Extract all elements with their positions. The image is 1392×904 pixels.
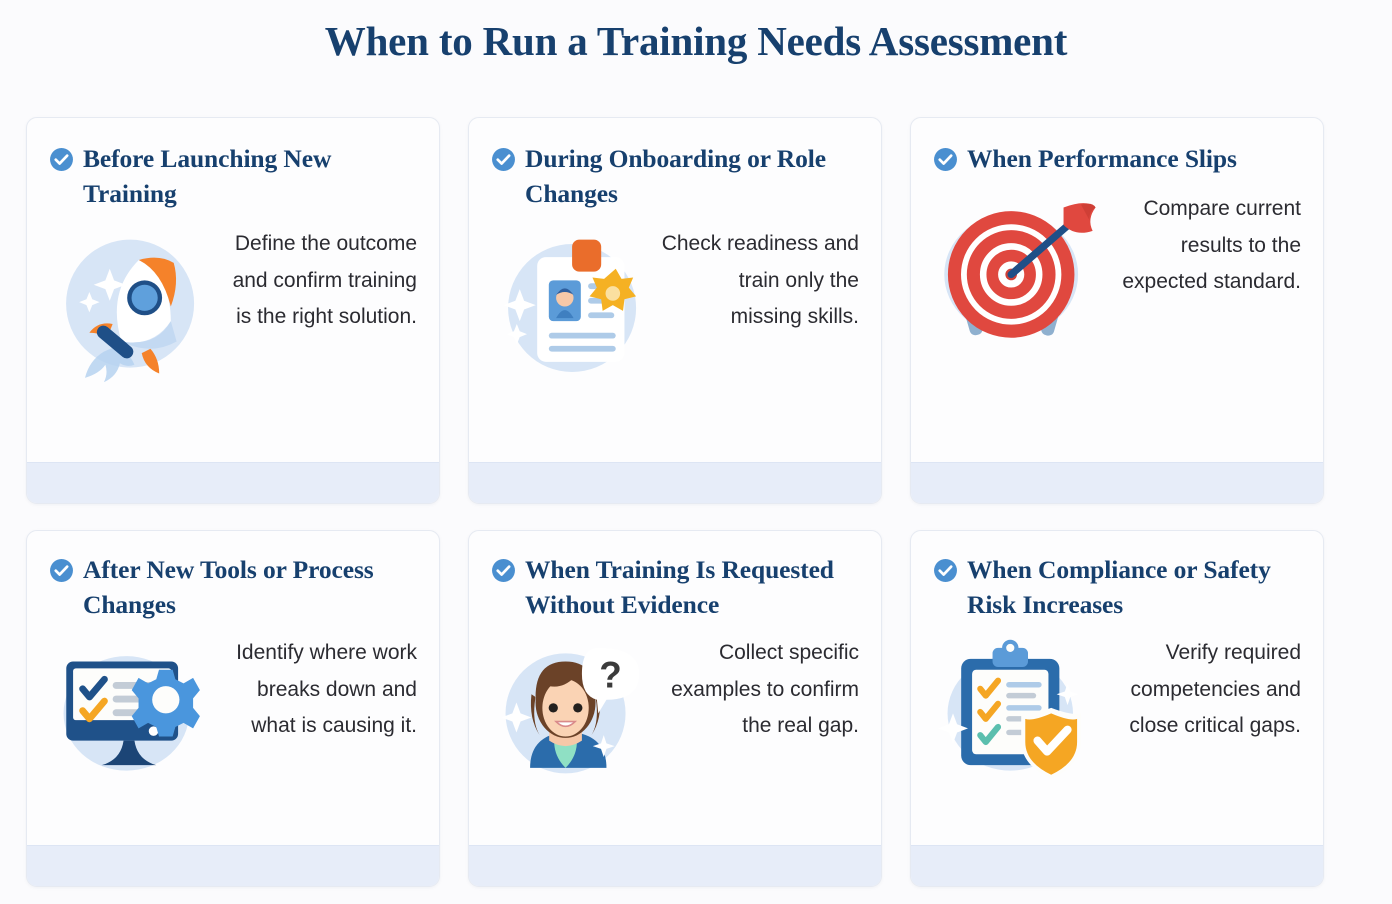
card-body-text: Verify required competencies and close c… bbox=[1129, 641, 1301, 738]
clipboard-shield-icon bbox=[929, 637, 1097, 787]
card-header: During Onboarding or Role Changes bbox=[491, 142, 859, 212]
monitor-checklist-gear-icon bbox=[45, 637, 213, 787]
check-circle-icon bbox=[49, 147, 74, 172]
card-body-text: Collect specific examples to confirm the… bbox=[671, 641, 859, 738]
card-content: When Compliance or Safety Risk Increases bbox=[911, 531, 1323, 745]
card-header: When Performance Slips bbox=[933, 142, 1301, 177]
card-when-performance-slips[interactable]: When Performance Slips bbox=[910, 117, 1324, 504]
card-footer-band bbox=[27, 845, 439, 886]
card-footer-band bbox=[911, 845, 1323, 886]
card-title: When Training Is Requested Without Evide… bbox=[525, 553, 859, 623]
target-dart-icon bbox=[929, 193, 1105, 353]
person-question-icon: ? bbox=[487, 637, 655, 787]
card-body: Check readiness and train only the missi… bbox=[491, 226, 859, 336]
card-header: Before Launching New Training bbox=[49, 142, 417, 212]
card-body: Define the outcome and confirm training … bbox=[49, 226, 417, 336]
card-title: During Onboarding or Role Changes bbox=[525, 142, 859, 212]
card-body-text: Define the outcome and confirm training … bbox=[233, 232, 417, 329]
card-body: Compare current results to the expected … bbox=[933, 191, 1301, 301]
card-body: Verify required competencies and close c… bbox=[933, 635, 1301, 745]
infographic-page: When to Run a Training Needs Assessment … bbox=[0, 0, 1392, 904]
page-title: When to Run a Training Needs Assessment bbox=[0, 0, 1392, 65]
card-body-text: Identify where work breaks down and what… bbox=[236, 641, 417, 738]
check-circle-icon bbox=[933, 558, 958, 583]
check-circle-icon bbox=[49, 558, 74, 583]
card-when-compliance-or-safety-risk-increases[interactable]: When Compliance or Safety Risk Increases bbox=[910, 530, 1324, 887]
card-title: After New Tools or Process Changes bbox=[83, 553, 417, 623]
card-footer-band bbox=[469, 845, 881, 886]
card-title: Before Launching New Training bbox=[83, 142, 417, 212]
card-content: When Training Is Requested Without Evide… bbox=[469, 531, 881, 745]
card-body: Identify where work breaks down and what… bbox=[49, 635, 417, 745]
card-content: During Onboarding or Role Changes bbox=[469, 118, 881, 336]
card-footer-band bbox=[911, 462, 1323, 503]
card-content: When Performance Slips bbox=[911, 118, 1323, 301]
card-during-onboarding-or-role-changes[interactable]: During Onboarding or Role Changes bbox=[468, 117, 882, 504]
card-footer-band bbox=[27, 462, 439, 503]
check-circle-icon bbox=[933, 147, 958, 172]
rocket-icon bbox=[45, 228, 221, 388]
check-circle-icon bbox=[491, 558, 516, 583]
card-footer-band bbox=[469, 462, 881, 503]
card-header: After New Tools or Process Changes bbox=[49, 553, 417, 623]
card-grid: Before Launching New Training bbox=[26, 117, 1372, 887]
card-header: When Compliance or Safety Risk Increases bbox=[933, 553, 1301, 623]
check-circle-icon bbox=[491, 147, 516, 172]
card-content: After New Tools or Process Changes bbox=[27, 531, 439, 745]
id-badge-icon bbox=[487, 228, 663, 388]
card-body-text: Compare current results to the expected … bbox=[1122, 197, 1301, 294]
card-header: When Training Is Requested Without Evide… bbox=[491, 553, 859, 623]
card-title: When Compliance or Safety Risk Increases bbox=[967, 553, 1301, 623]
card-after-new-tools-or-process-changes[interactable]: After New Tools or Process Changes bbox=[26, 530, 440, 887]
card-title: When Performance Slips bbox=[967, 142, 1237, 177]
card-before-launching-new-training[interactable]: Before Launching New Training bbox=[26, 117, 440, 504]
card-when-training-is-requested-without-evidence[interactable]: When Training Is Requested Without Evide… bbox=[468, 530, 882, 887]
card-body: ? Collect specific examples to confirm t… bbox=[491, 635, 859, 745]
svg-text:?: ? bbox=[599, 654, 621, 695]
card-content: Before Launching New Training bbox=[27, 118, 439, 336]
card-body-text: Check readiness and train only the missi… bbox=[662, 232, 859, 329]
